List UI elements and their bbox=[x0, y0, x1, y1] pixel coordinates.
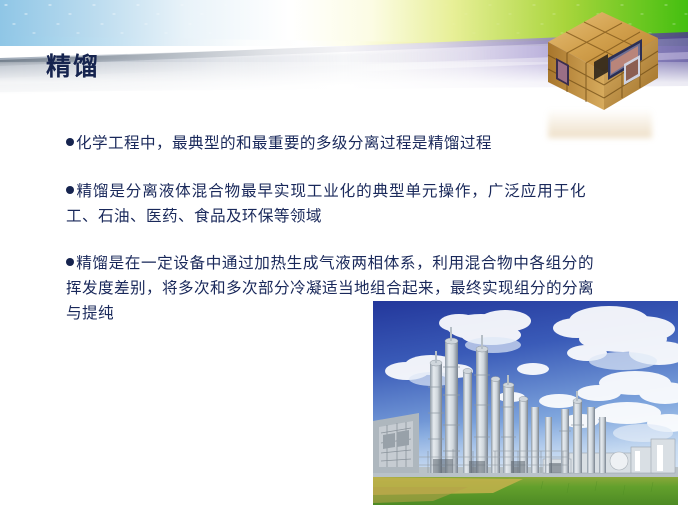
bullet-text-1: 化学工程中，最典型的和最重要的多级分离过程是精馏过程 bbox=[76, 134, 492, 152]
photo-cube-icon bbox=[536, 2, 664, 114]
bullet-item-2: 精馏是分离液体混合物最早实现工业化的典型单元操作，广泛应用于化工、石油、医药、食… bbox=[66, 179, 586, 229]
bullet-marker-icon bbox=[66, 186, 74, 194]
bullet-item-1: 化学工程中，最典型的和最重要的多级分离过程是精馏过程 bbox=[66, 131, 600, 156]
bullet-marker-icon bbox=[66, 258, 74, 266]
page-title: 精馏 bbox=[46, 47, 100, 83]
content-body: 化学工程中，最典型的和最重要的多级分离过程是精馏过程 精馏是分离液体混合物最早实… bbox=[66, 131, 606, 326]
bullet-marker-icon bbox=[66, 138, 74, 146]
bullet-text-2: 精馏是分离液体混合物最早实现工业化的典型单元操作，广泛应用于化工、石油、医药、食… bbox=[66, 182, 586, 225]
slide-canvas: 精馏 化学工程中，最典型的和最重要的多级分离过程是精馏过程 精馏是分离液体混合物… bbox=[0, 0, 688, 507]
plant-photo bbox=[373, 301, 678, 505]
